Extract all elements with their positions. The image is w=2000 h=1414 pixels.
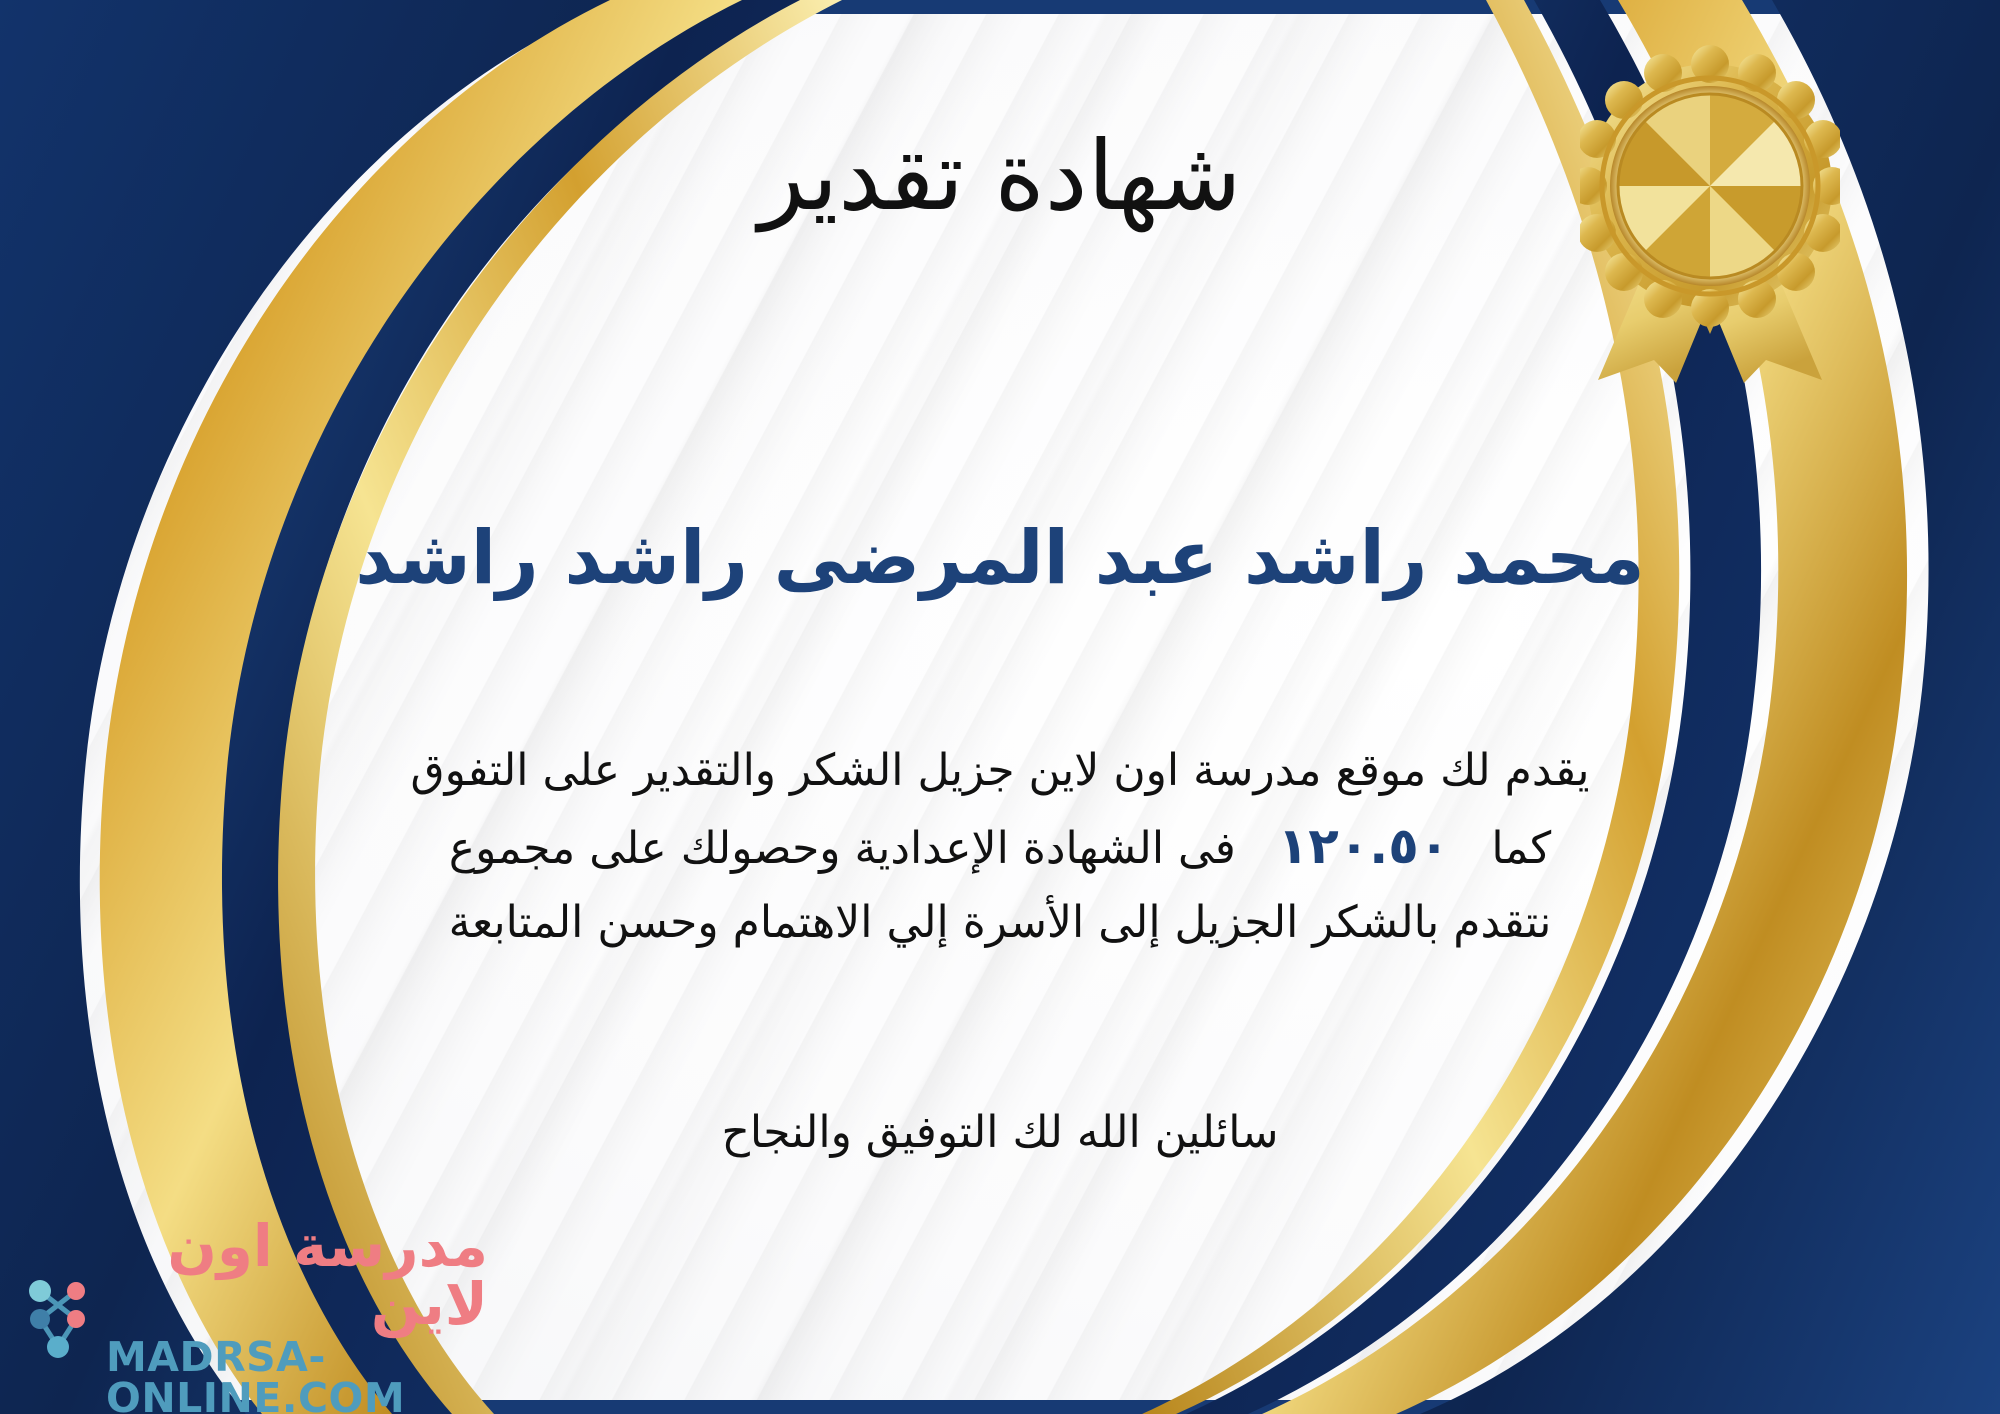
brand-name-ar: مدرسة اون لاين: [106, 1217, 488, 1333]
certificate-title: شهادة تقدير: [0, 128, 2000, 224]
body-line-2: كما ١٢٠.٥٠ فى الشهادة الإعدادية وحصولك ع…: [60, 806, 1940, 887]
body-line-3: نتقدم بالشكر الجزيل إلى الأسرة إلي الاهت…: [60, 887, 1940, 958]
closing-wish: سائلين الله لك التوفيق والنجاح: [0, 1100, 2000, 1166]
body-line-2-prefix: كما: [1491, 823, 1551, 874]
network-nodes-icon: [18, 1275, 96, 1361]
score-value: ١٢٠.٥٠: [1250, 806, 1478, 887]
body-line-2-suffix: فى الشهادة الإعدادية وحصولك على مجموع: [449, 823, 1236, 874]
body-line-1: يقدم لك موقع مدرسة اون لاين جزيل الشكر و…: [60, 735, 1940, 806]
recipient-name: محمد راشد عبد المرضى راشد راشد: [0, 518, 2000, 599]
certificate-body: يقدم لك موقع مدرسة اون لاين جزيل الشكر و…: [60, 735, 1940, 959]
brand-logo[interactable]: مدرسة اون لاين MADRSA-ONLINE.COM: [18, 1238, 488, 1398]
certificate-canvas: شهادة تقدير محمد راشد عبد المرضى راشد را…: [0, 0, 2000, 1414]
brand-name-en: MADRSA-ONLINE.COM: [106, 1337, 488, 1414]
brand-logo-text: مدرسة اون لاين MADRSA-ONLINE.COM: [106, 1217, 488, 1414]
